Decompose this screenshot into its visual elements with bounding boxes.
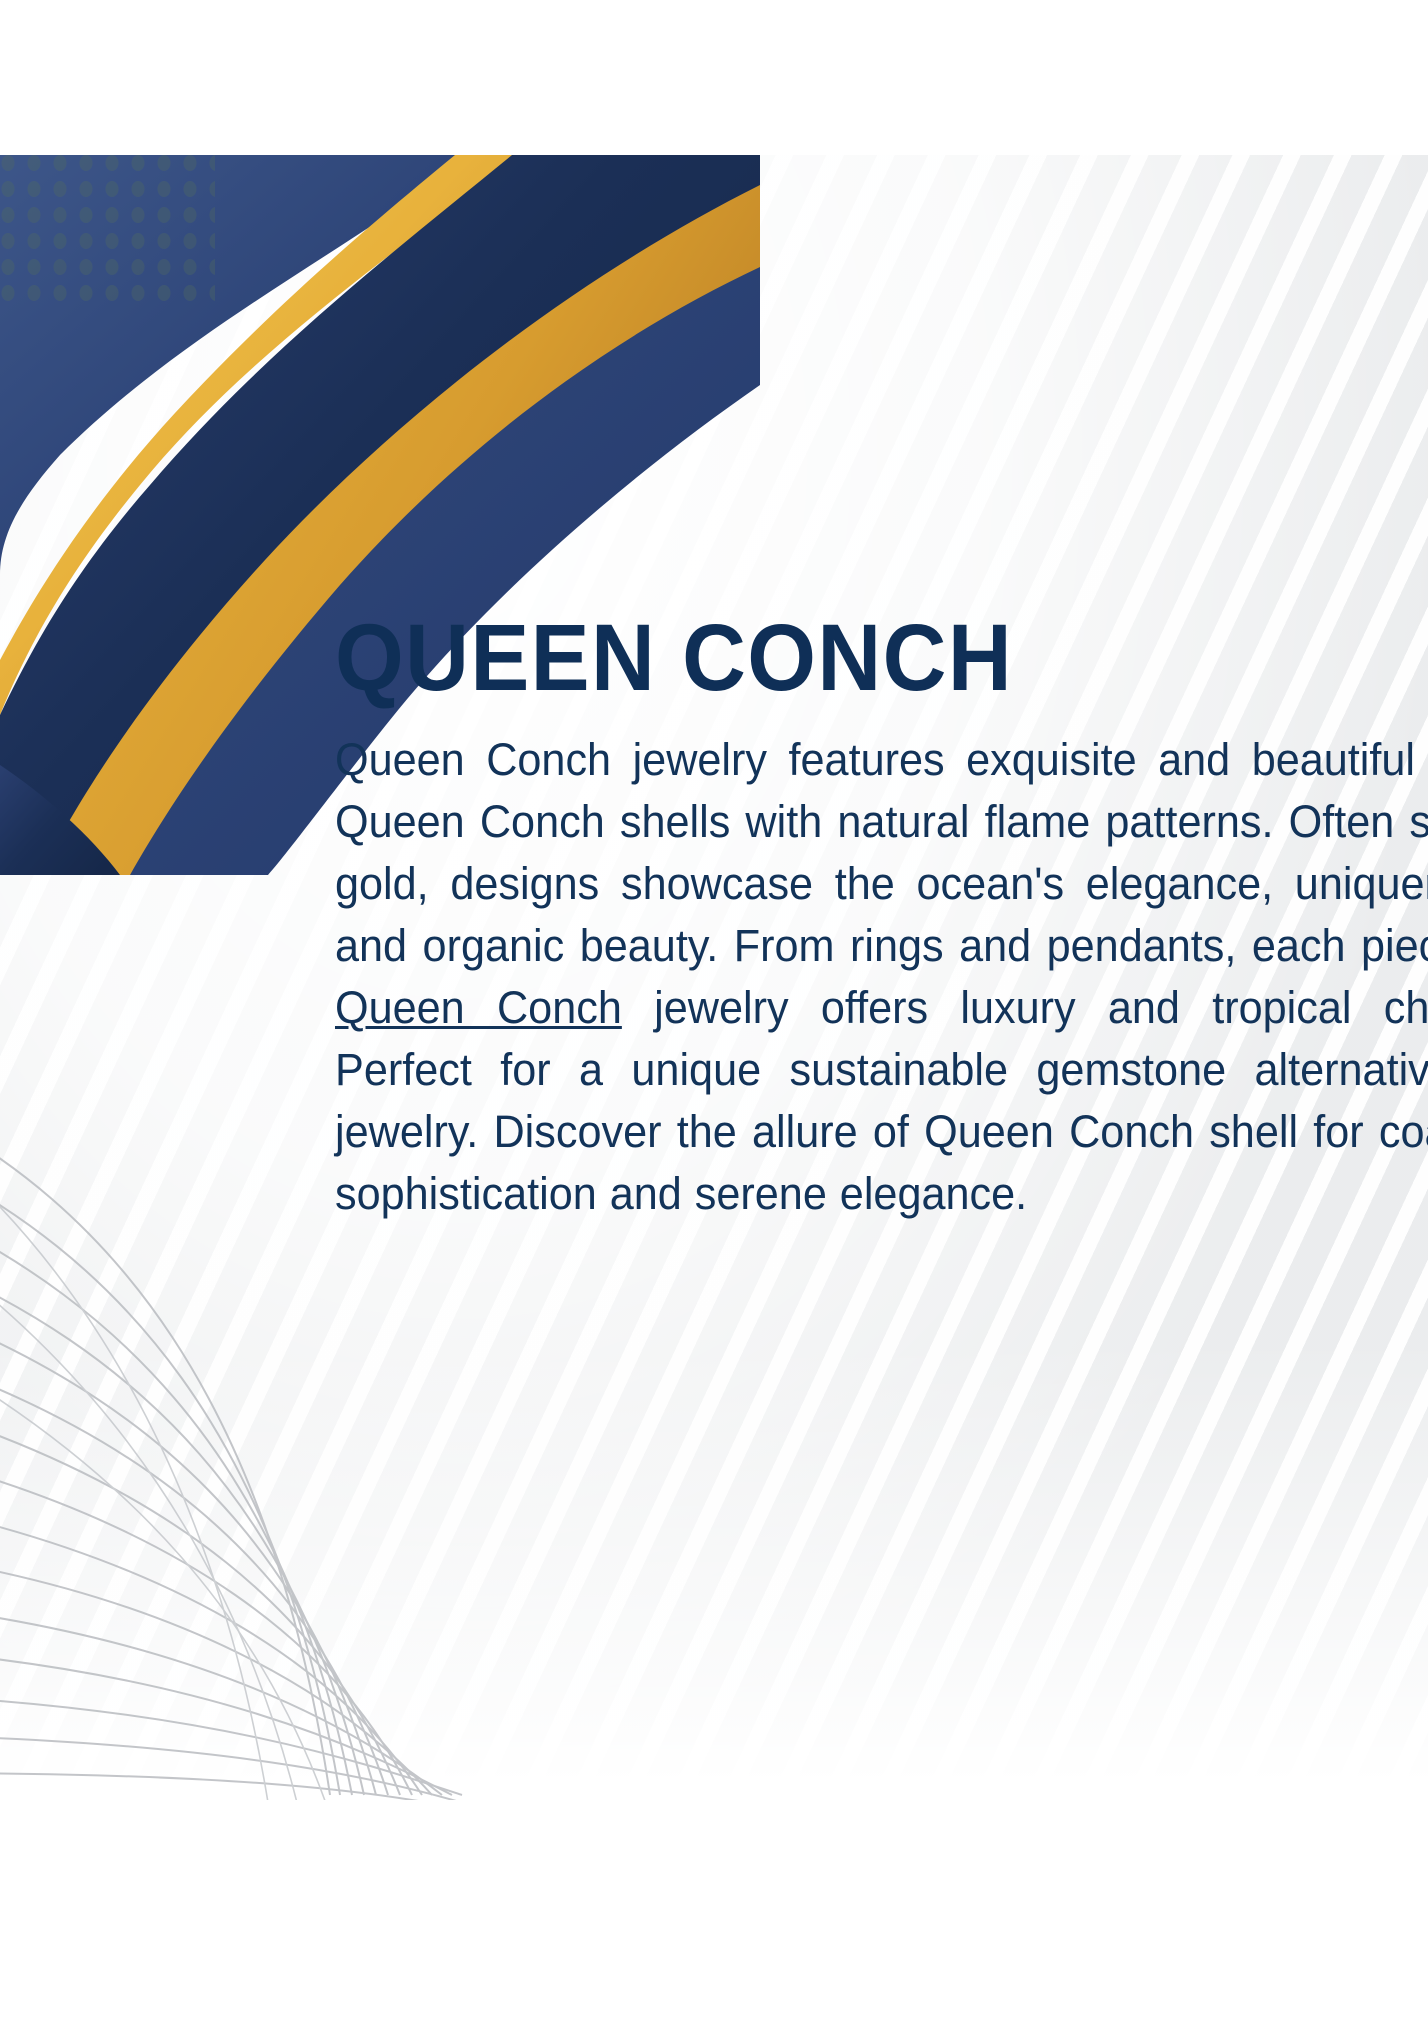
content-band: QUEEN CONCH Queen Conch jewelry features… [0,155,1428,1800]
page-root: QUEEN CONCH Queen Conch jewelry features… [0,0,1428,2018]
article-paragraph: Queen Conch jewelry features exquisite a… [335,729,1428,1225]
queen-conch-link[interactable]: Queen Conch [335,982,622,1033]
article-content: QUEEN CONCH Queen Conch jewelry features… [335,610,1428,1225]
page-title: QUEEN CONCH [335,610,1428,707]
